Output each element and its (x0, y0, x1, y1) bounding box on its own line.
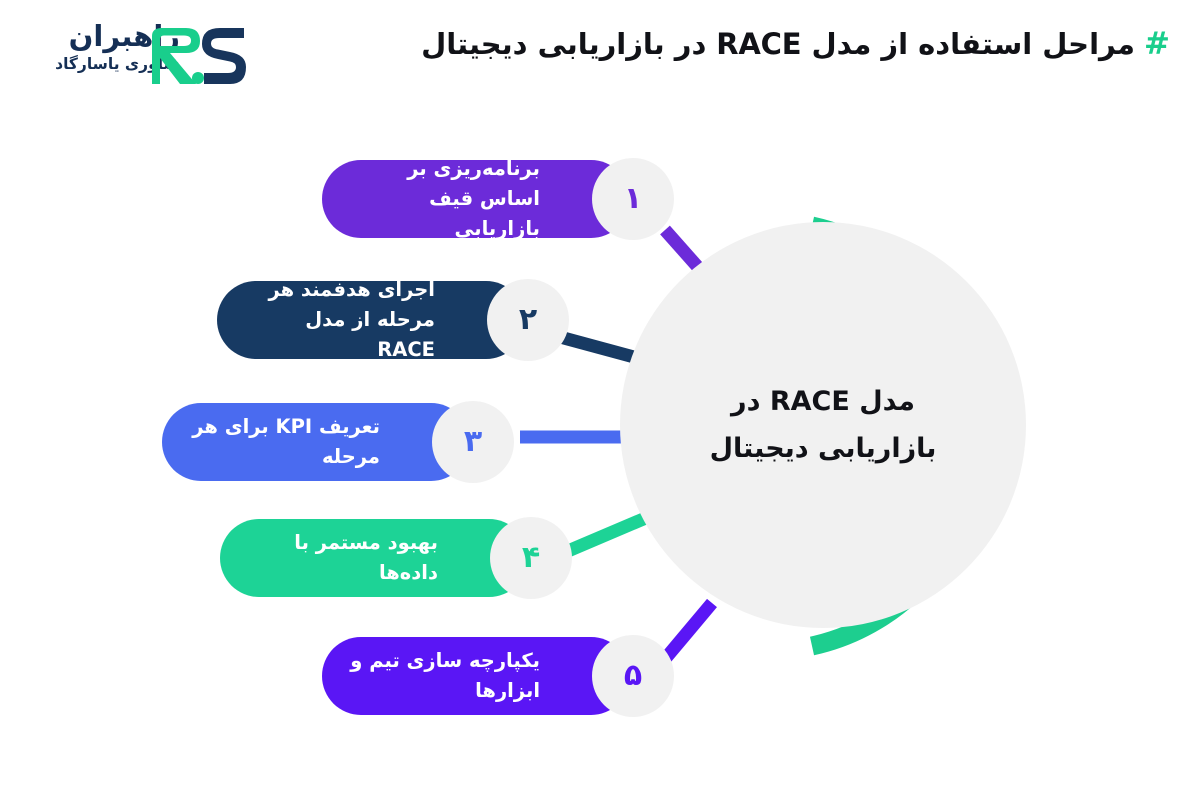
step-badge-2: ۲ (487, 279, 569, 361)
step-label-3: تعریف KPI برای هر مرحله (190, 412, 380, 472)
step-pill-1[interactable]: برنامه‌ریزی بر اساس قیف بازاریابی (322, 160, 630, 238)
step-badge-3: ۳ (432, 401, 514, 483)
step-pill-3[interactable]: تعریف KPI برای هر مرحله (162, 403, 470, 481)
center-label: مدل RACE در بازاریابی دیجیتال (620, 222, 1026, 628)
step-badge-1: ۱ (592, 158, 674, 240)
step-badge-5: ۵ (592, 635, 674, 717)
step-pill-4[interactable]: بهبود مستمر با داده‌ها (220, 519, 528, 597)
step-label-1: برنامه‌ریزی بر اساس قیف بازاریابی (350, 154, 540, 245)
step-pill-5[interactable]: یکپارچه سازی تیم و ابزارها (322, 637, 630, 715)
step-pill-2[interactable]: اجرای هدفمند هر مرحله از مدل RACE (217, 281, 525, 359)
center-node: مدل RACE در بازاریابی دیجیتال (620, 222, 1026, 628)
step-label-4: بهبود مستمر با داده‌ها (248, 528, 438, 588)
step-label-5: یکپارچه سازی تیم و ابزارها (350, 646, 540, 706)
step-label-2: اجرای هدفمند هر مرحله از مدل RACE (245, 275, 435, 366)
step-badge-4: ۴ (490, 517, 572, 599)
race-model-diagram: مدل RACE در بازاریابی دیجیتال برنامه‌ریز… (0, 0, 1200, 800)
infographic-canvas: راهبران فناوری یاسارگاد # مراحل استفاده … (0, 0, 1200, 800)
